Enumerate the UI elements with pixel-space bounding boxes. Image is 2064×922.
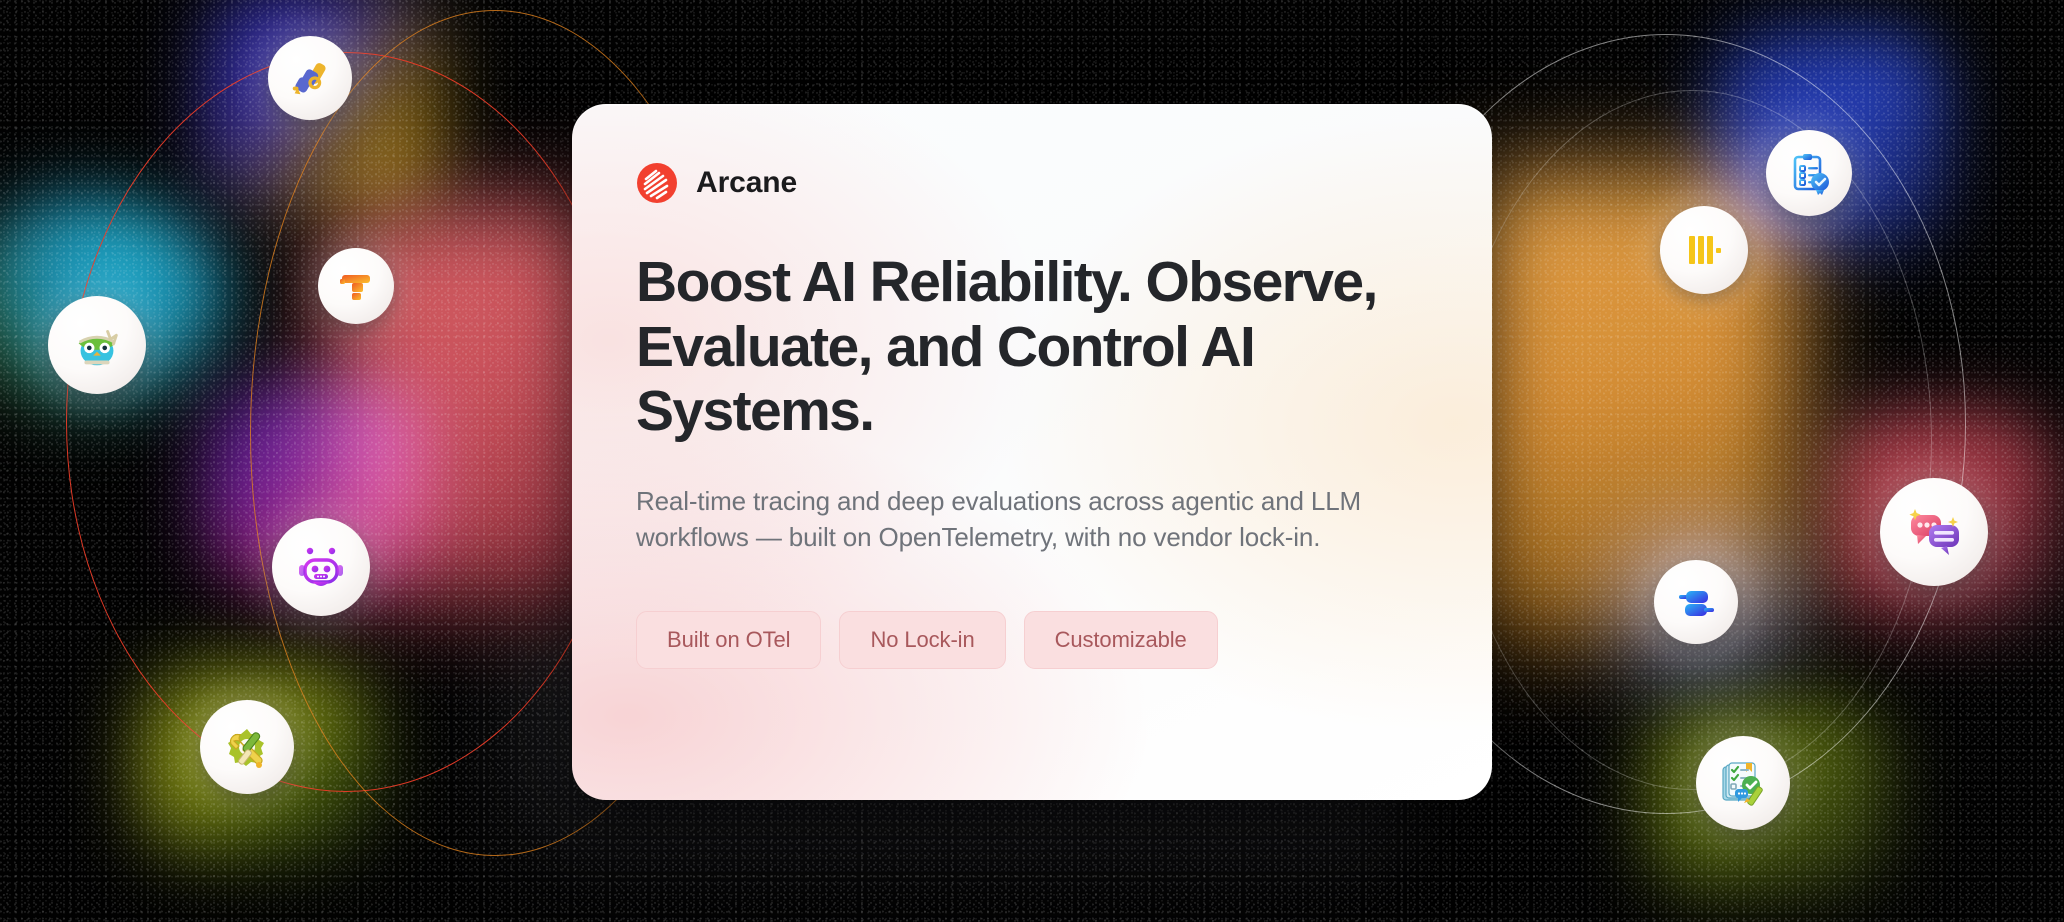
robot-head-icon (293, 539, 349, 595)
pill-built-on-otel[interactable]: Built on OTel (636, 611, 821, 669)
brand-lockup: Arcane (636, 162, 1428, 204)
orbit-node-robot[interactable] (272, 518, 370, 616)
pill-no-lock-in[interactable]: No Lock-in (839, 611, 1005, 669)
flow-marker-icon (336, 266, 376, 306)
orbit-node-chat[interactable] (1880, 478, 1988, 586)
orbit-node-bars[interactable] (1660, 206, 1748, 294)
orbit-node-flow[interactable] (318, 248, 394, 324)
clipboard-badge-icon (1785, 149, 1833, 197)
page-title: Boost AI Reliability. Observe, Evaluate,… (636, 250, 1396, 444)
sliders-icon (1673, 579, 1719, 625)
hero-card: Arcane Boost AI Reliability. Observe, Ev… (572, 104, 1492, 800)
hero-subcopy: Real-time tracing and deep evaluations a… (636, 484, 1428, 555)
chat-bubbles-icon (1903, 501, 1965, 563)
orbit-node-tools[interactable] (200, 700, 294, 794)
telescope-icon (287, 55, 333, 101)
survey-pencil-icon (1716, 756, 1770, 810)
brand-name: Arcane (696, 166, 797, 200)
pill-customizable[interactable]: Customizable (1024, 611, 1218, 669)
feature-pill-group: Built on OTel No Lock-in Customizable (636, 611, 1428, 669)
wrench-screwdriver-icon (220, 720, 274, 774)
owl-mascot-icon (68, 316, 126, 374)
trace-bars-icon (1680, 226, 1728, 274)
orbit-node-owl[interactable] (48, 296, 146, 394)
orbit-ring-right-dim (1452, 90, 1932, 790)
orbit-node-clipboard[interactable] (1766, 130, 1852, 216)
orbit-node-survey[interactable] (1696, 736, 1790, 830)
hero-stage: Arcane Boost AI Reliability. Observe, Ev… (0, 0, 2064, 922)
orbit-node-telescope[interactable] (268, 36, 352, 120)
orbit-node-sliders[interactable] (1654, 560, 1738, 644)
arcane-logo-icon (636, 162, 678, 204)
